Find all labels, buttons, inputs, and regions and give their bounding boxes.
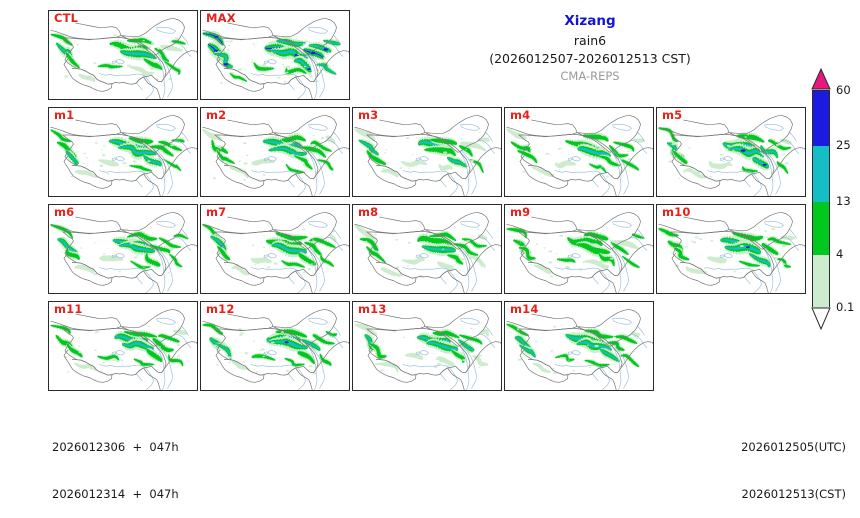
title-model: CMA-REPS [440,68,740,86]
colorbar-over-arrow [811,68,831,90]
footer-left-line2: 2026012314 + 047h [52,487,179,503]
y-tick-mark [48,344,49,345]
map-panel-m8[interactable]: m8 [352,204,502,294]
colorbar-tick-label: 0.1 [836,300,854,314]
panel-label: m11 [54,304,83,316]
panel-label: m8 [358,207,378,219]
map-panel-max[interactable]: MAX [200,10,350,100]
panel-label: m13 [358,304,387,316]
x-tick-mark [578,390,579,391]
x-tick-mark [274,390,275,391]
map-panel-m4[interactable]: m4 [504,107,654,197]
panel-label: m14 [510,304,539,316]
title-period: (2026012507-2026012513 CST) [440,50,740,68]
footer-right: 2026012505(UTC) 2026012513(CST) [741,409,846,518]
colorbar-tick-label: 60 [836,83,851,97]
x-tick-mark [172,390,173,391]
map-panel-m14[interactable]: m1480°E90°E100°E [504,301,654,391]
title-region: Xizang [440,12,740,32]
x-tick-mark [680,293,681,294]
colorbar-segment [813,146,829,202]
panel-label: CTL [54,13,78,25]
colorbar-segment [813,202,829,256]
panel-label: m5 [662,110,682,122]
panel-label: m4 [510,110,530,122]
colorbar-tick-label: 4 [836,247,843,261]
panel-label: m3 [358,110,378,122]
map-panel-m2[interactable]: m2 [200,107,350,197]
y-tick-mark [48,120,49,121]
map-panel-m6[interactable]: m638°N33°N28°N [48,204,198,294]
colorbar-segment [813,91,829,147]
y-tick-mark [48,83,49,84]
map-panel-ctl[interactable]: CTL38°N33°N28°N [48,10,198,100]
panel-label: m12 [206,304,235,316]
map-panel-m7[interactable]: m7 [200,204,350,294]
colorbar-segment [813,255,829,308]
y-tick-mark [48,374,49,375]
title-variable: rain6 [440,32,740,50]
panel-label: m6 [54,207,74,219]
x-tick-mark [122,390,123,391]
x-tick-mark [324,390,325,391]
x-tick-mark [376,390,377,391]
panel-label: m2 [206,110,226,122]
y-tick-mark [48,314,49,315]
map-panel-m12[interactable]: m1280°E90°E100°E [200,301,350,391]
x-tick-mark [476,390,477,391]
panel-label: m9 [510,207,530,219]
x-tick-mark [528,390,529,391]
map-panel-m9[interactable]: m9 [504,204,654,294]
map-panel-m11[interactable]: m1138°N33°N28°N80°E90°E100°E [48,301,198,391]
x-tick-mark [72,390,73,391]
x-tick-mark [224,390,225,391]
x-tick-mark [426,390,427,391]
colorbar [812,90,830,307]
footer-left: 2026012306 + 047h 2026012314 + 047h [52,409,179,518]
colorbar-under-arrow [811,307,831,330]
panel-label: m10 [662,207,691,219]
x-tick-mark [730,293,731,294]
panel-label: MAX [206,13,236,25]
map-panel-m13[interactable]: m1380°E90°E100°E [352,301,502,391]
y-tick-mark [48,53,49,54]
y-tick-mark [48,180,49,181]
y-tick-mark [48,150,49,151]
footer-right-line2: 2026012513(CST) [741,487,846,503]
y-tick-mark [48,217,49,218]
map-panel-m1[interactable]: m138°N33°N28°N [48,107,198,197]
map-panel-m3[interactable]: m3 [352,107,502,197]
title-block: Xizang rain6 (2026012507-2026012513 CST)… [440,12,740,86]
y-tick-mark [48,277,49,278]
y-tick-mark [48,247,49,248]
map-panel-m10[interactable]: m10 [656,204,806,294]
panel-label: m7 [206,207,226,219]
panel-label: m1 [54,110,74,122]
colorbar-tick-label: 25 [836,138,851,152]
map-panel-m5[interactable]: m5 [656,107,806,197]
x-tick-mark [780,293,781,294]
x-tick-mark [628,390,629,391]
colorbar-tick-label: 13 [836,194,851,208]
y-tick-mark [48,23,49,24]
